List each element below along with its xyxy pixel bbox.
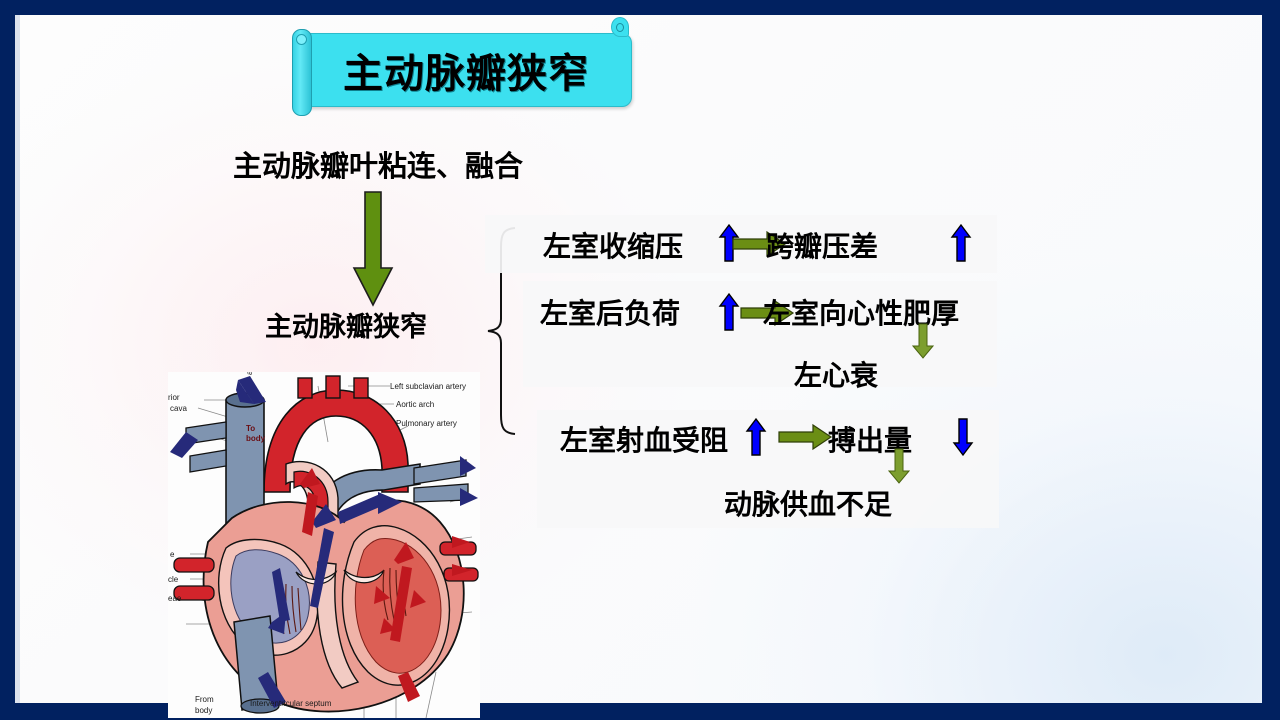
green-down-arrow-small-icon [888,447,910,485]
label-left-subclavian: Left subclavian artery [390,382,466,391]
blue-down-arrow-icon [952,417,974,457]
row1-cause-text: 左室收缩压 [543,225,683,265]
row1-effect-text: 跨瓣压差 [766,225,878,265]
page-title: 主动脉瓣狭窄 [301,34,631,106]
row3-cause-text: 左室射血受阻 [560,419,728,459]
label-partial-eae: eae [168,594,181,603]
label-aorta: aorta [245,372,254,375]
label-aortic-arch: Aortic arch [396,400,434,409]
label-partial-cle: cle [168,575,178,584]
green-down-arrow-small-icon [912,322,934,360]
scroll-curl-right-icon [611,17,629,37]
blue-up-arrow-icon [718,292,740,332]
label-pulmonary-artery: Pulmonary artery [396,419,457,428]
flow-lead-text: 主动脉瓣叶粘连、融合 [233,143,523,185]
row2-outcome-text: 左心衰 [794,354,878,394]
title-banner: 主动脉瓣狭窄 [300,33,632,107]
row2-cause-text: 左室后负荷 [540,292,680,332]
label-from-body-line1: From [195,695,214,704]
heart-anatomy-figure: aorta Left subclavian artery Aortic arch… [168,372,480,718]
label-from-body-line2: body [195,706,212,715]
label-to-body-line1: To [246,424,255,433]
slide-root: 主动脉瓣狭窄 主动脉瓣叶粘连、融合 主动脉瓣狭窄 左室收缩压 [0,0,1280,720]
label-superior: rior [168,393,180,402]
scroll-roll-left-icon [292,29,312,116]
slide-canvas: 主动脉瓣狭窄 主动脉瓣叶粘连、融合 主动脉瓣狭窄 左室收缩压 [15,15,1262,703]
label-to-body-line2: body [246,434,265,443]
green-down-arrow-large-icon [352,190,394,308]
label-vena-cava: cava [170,404,187,413]
blue-up-arrow-icon [745,417,767,457]
row3-outcome-text: 动脉供血不足 [724,483,892,523]
blue-up-arrow-icon [950,223,972,263]
flow-result-text: 主动脉瓣狭窄 [265,305,427,344]
label-septum: Interventricular septum [250,699,331,708]
green-right-arrow-icon [777,423,833,451]
label-partial-e: e [170,550,174,559]
